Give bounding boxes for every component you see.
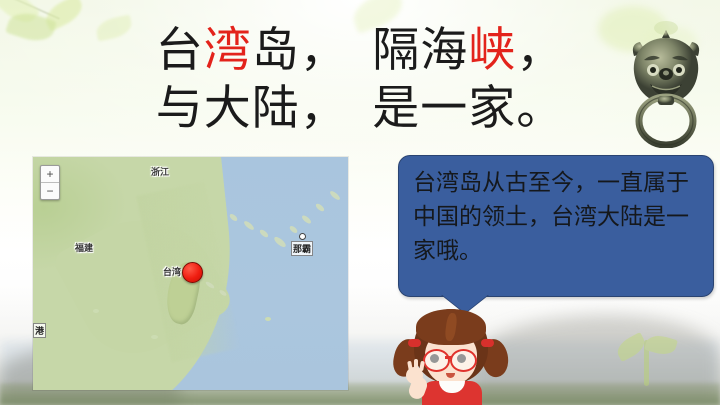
girl-hairband-right xyxy=(481,339,494,347)
title-char-xia-highlight: 峡 xyxy=(468,25,516,77)
sprout-icon xyxy=(612,330,682,388)
zoom-in-button[interactable]: + xyxy=(41,166,59,182)
map-islet xyxy=(93,309,99,313)
girl-glasses-bridge xyxy=(445,356,452,359)
title-text-dao: 岛， 隔海 xyxy=(252,25,469,77)
map-label-hongkong: 港 xyxy=(33,323,46,338)
map-label-fujian: 福建 xyxy=(75,241,93,254)
map-islet xyxy=(151,335,158,339)
girl-glasses-left xyxy=(423,349,450,372)
title-char-wan-highlight: 湾 xyxy=(204,25,252,77)
girl-glasses-right xyxy=(450,349,477,372)
cartoon-girl-avatar xyxy=(392,305,510,405)
title-line-2: 与大陆， 是一家。 xyxy=(0,80,720,138)
girl-finger xyxy=(414,359,418,369)
title-text-comma: ， xyxy=(516,25,564,77)
map-viewport[interactable]: 浙江 福建 台湾 那霸 港 + − xyxy=(33,157,348,390)
map-islet xyxy=(265,317,271,321)
slide-canvas: 台湾岛， 隔海峡， 与大陆， 是一家。 浙江 福建 台湾 那霸 港 + xyxy=(0,0,720,405)
title-char-tai: 台 xyxy=(156,25,204,77)
map-label-zhejiang: 浙江 xyxy=(151,165,169,178)
map-label-taiwan: 台湾 xyxy=(163,265,181,278)
zoom-out-button[interactable]: − xyxy=(41,183,59,199)
speech-bubble: 台湾岛从古至今，一直属于中国的领土，台湾大陆是一家哦。 xyxy=(398,155,714,297)
map-marker-red[interactable] xyxy=(182,262,203,283)
map-zoom-controls[interactable]: + − xyxy=(40,165,60,200)
speech-bubble-text: 台湾岛从古至今，一直属于中国的领土，台湾大陆是一家哦。 xyxy=(413,166,705,268)
sprout-leaf-right xyxy=(644,332,678,358)
map-label-naha: 那霸 xyxy=(291,241,313,256)
girl-hairband-left xyxy=(408,339,421,347)
title-line-1: 台湾岛， 隔海峡， xyxy=(0,22,720,80)
page-title: 台湾岛， 隔海峡， 与大陆， 是一家。 xyxy=(0,22,720,138)
map-city-dot-naha xyxy=(299,233,306,240)
